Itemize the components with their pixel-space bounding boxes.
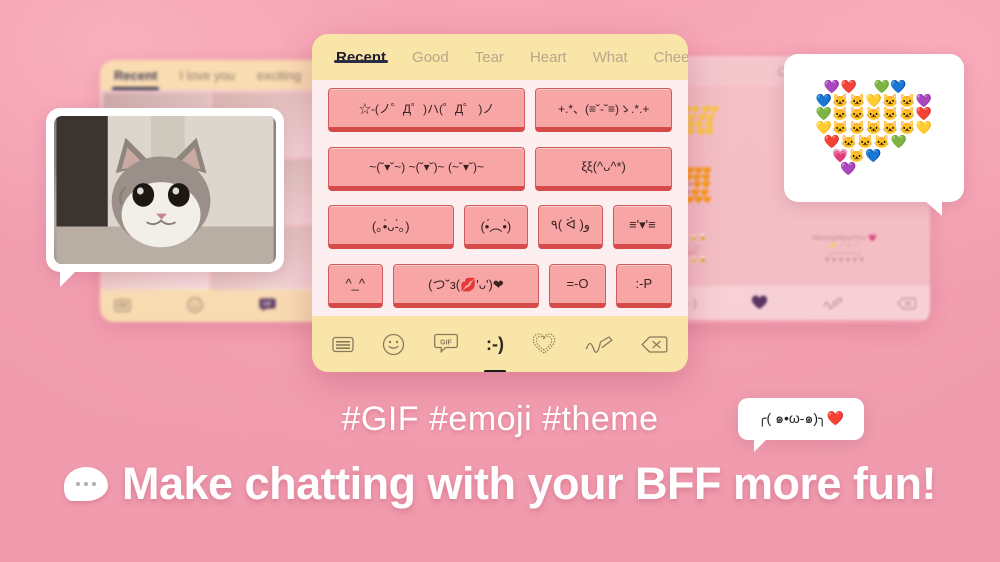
kaomoji-key[interactable]: ٩( ᐛ )و bbox=[538, 205, 603, 249]
kaomoji-row: ☆-(ノ゜Д゜)ハ(゜Д゜ )ノ+.*、(≡˘-˘≡)ゝ.*.+ bbox=[328, 88, 672, 132]
center-tab-tear[interactable]: Tear bbox=[473, 46, 506, 69]
gif-icon[interactable]: GIF bbox=[434, 333, 458, 355]
center-panel-toolbar[interactable]: GIF :-) bbox=[312, 316, 688, 372]
smiley-icon[interactable] bbox=[187, 297, 203, 313]
backspace-icon[interactable] bbox=[897, 297, 916, 310]
headline-row: Make chatting with your BFF more fun! bbox=[0, 458, 1000, 510]
dotted-heart-icon[interactable] bbox=[532, 333, 556, 355]
kaomoji-active-underline bbox=[484, 370, 506, 373]
emoji-art-missing-you[interactable]: MissingAboutYou 💗 ✨ ･ﾟ✧ ･ﾟ ┌─────┐ ▼▼▼▼▼… bbox=[767, 222, 922, 278]
keyboard-icon[interactable] bbox=[114, 299, 131, 312]
kaomoji-key[interactable]: ~(˘▾˘~) ~(˘▾˘)~ (~˘▾˘)~ bbox=[328, 147, 525, 191]
promo-screenshot: Recent I love you exciting GIF :-) Celeb… bbox=[0, 0, 1000, 562]
emoji-bubble-tail bbox=[924, 200, 942, 216]
kaomoji-icon[interactable]: :-) bbox=[486, 334, 504, 355]
left-tab-exciting[interactable]: exciting bbox=[255, 65, 303, 86]
gif-media: GIF bbox=[54, 116, 276, 264]
center-tab-recent[interactable]: Recent bbox=[334, 46, 388, 69]
center-tab-heart[interactable]: Heart bbox=[528, 46, 569, 69]
gif-icon[interactable]: GIF bbox=[259, 297, 276, 313]
kaomoji-key[interactable]: =-O bbox=[549, 264, 605, 308]
pen-icon[interactable] bbox=[585, 334, 613, 354]
tagline: #GIF #emoji #theme bbox=[0, 400, 1000, 439]
dotted-heart-icon[interactable] bbox=[751, 295, 768, 311]
kaomoji-key[interactable]: (｡•̀ᴗ-̀｡) bbox=[328, 205, 454, 249]
kaomoji-key[interactable]: +.*、(≡˘-˘≡)ゝ.*.+ bbox=[535, 88, 672, 132]
smiley-icon[interactable] bbox=[382, 333, 405, 356]
kaomoji-key[interactable]: ξξ(^ᴗ^*) bbox=[535, 147, 672, 191]
center-panel-tabs[interactable]: RecentGoodTearHeartWhatCheer bbox=[312, 34, 688, 80]
kaomoji-key[interactable]: ☆-(ノ゜Д゜)ハ(゜Д゜ )ノ bbox=[328, 88, 525, 132]
gif-bubble-tail bbox=[60, 271, 76, 287]
kaomoji-row: ^_^(つ˘з(💋'ᴗ')❤=-O:-P bbox=[328, 264, 672, 308]
kaomoji-key[interactable]: :-P bbox=[616, 264, 672, 308]
kaomoji-key-area[interactable]: ☆-(ノ゜Д゜)ハ(゜Д゜ )ノ+.*、(≡˘-˘≡)ゝ.*.+~(˘▾˘~) … bbox=[312, 80, 688, 316]
kaomoji-keyboard-panel[interactable]: RecentGoodTearHeartWhatCheer ☆-(ノ゜Д゜)ハ(゜… bbox=[312, 34, 688, 372]
left-tab-i-love-you[interactable]: I love you bbox=[177, 65, 237, 86]
gif-preview-bubble[interactable]: GIF bbox=[46, 108, 284, 272]
svg-text:GIF: GIF bbox=[263, 301, 273, 307]
backspace-icon[interactable] bbox=[641, 335, 668, 354]
pen-icon[interactable] bbox=[823, 296, 843, 310]
left-tab-recent[interactable]: Recent bbox=[112, 65, 159, 86]
keyboard-icon[interactable] bbox=[332, 336, 354, 353]
center-tab-what[interactable]: What bbox=[591, 46, 630, 69]
headline: Make chatting with your BFF more fun! bbox=[122, 458, 936, 510]
kaomoji-row: ~(˘▾˘~) ~(˘▾˘)~ (~˘▾˘)~ξξ(^ᴗ^*) bbox=[328, 147, 672, 191]
emoji-art-bubble[interactable]: 💜❤️ 💚💙 💙🐱🐱💛🐱🐱💜 💚🐱🐱🐱🐱🐱❤️ 💛🐱🐱🐱🐱🐱💛 ❤️🐱🐱🐱💚 💗… bbox=[784, 54, 964, 202]
kaomoji-key[interactable]: ^_^ bbox=[328, 264, 383, 308]
kao-bubble-tail bbox=[754, 438, 768, 452]
chat-bubble-icon bbox=[64, 467, 108, 501]
kaomoji-key[interactable]: (つ˘з(💋'ᴗ')❤ bbox=[393, 264, 540, 308]
center-tab-cheer[interactable]: Cheer bbox=[652, 46, 688, 69]
kaomoji-key[interactable]: (•́︵•̀) bbox=[464, 205, 529, 249]
svg-text:GIF: GIF bbox=[440, 339, 452, 346]
emoji-heart-art: 💜❤️ 💚💙 💙🐱🐱💛🐱🐱💜 💚🐱🐱🐱🐱🐱❤️ 💛🐱🐱🐱🐱🐱💛 ❤️🐱🐱🐱💚 💗… bbox=[816, 80, 933, 176]
kaomoji-icon-label: :-) bbox=[486, 334, 504, 355]
center-tab-good[interactable]: Good bbox=[410, 46, 451, 69]
kaomoji-row: (｡•̀ᴗ-̀｡)(•́︵•̀)٩( ᐛ )و≡'▾'≡ bbox=[328, 205, 672, 249]
cat-illustration bbox=[54, 116, 276, 264]
kaomoji-key[interactable]: ≡'▾'≡ bbox=[613, 205, 672, 249]
